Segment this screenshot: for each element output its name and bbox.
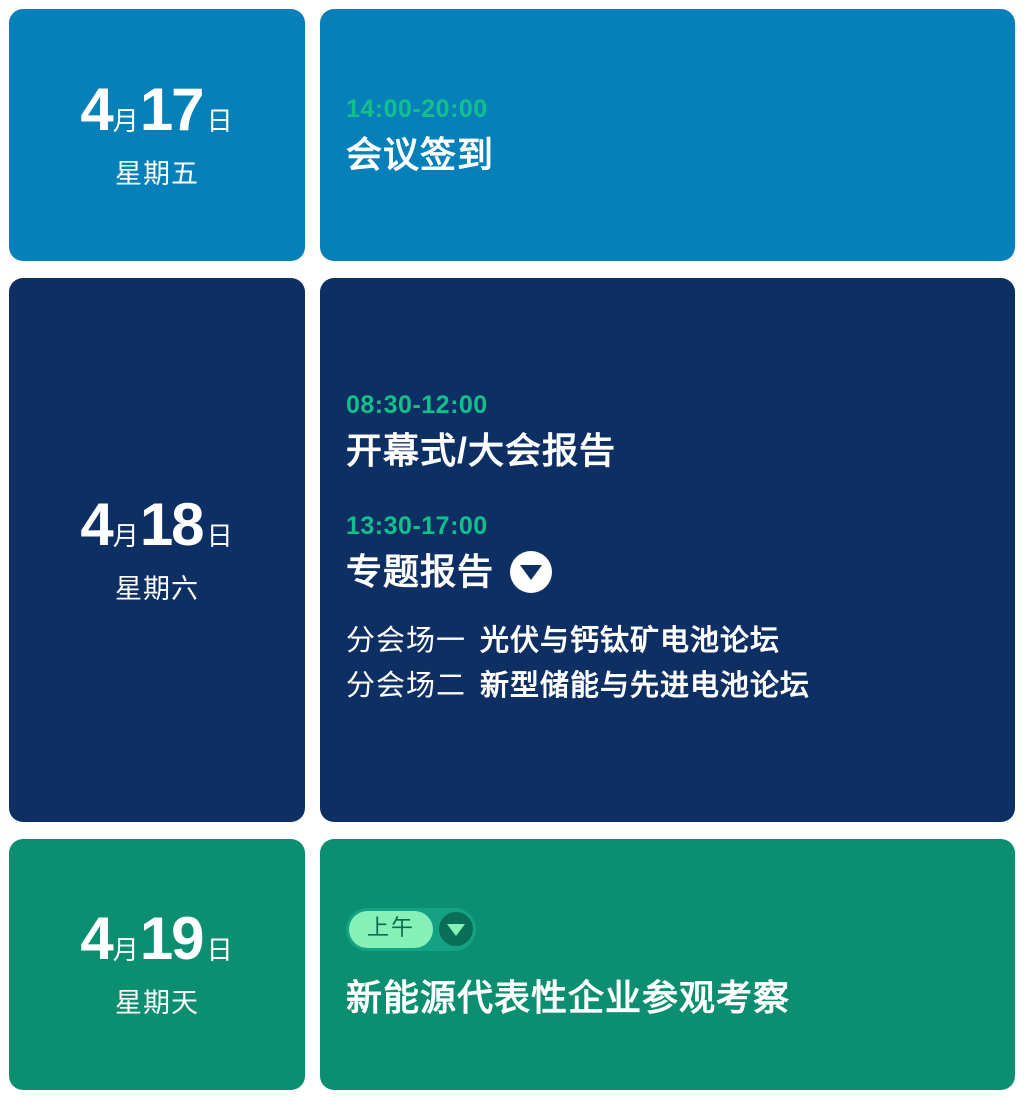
weekday-label: 星期六: [115, 567, 199, 606]
session-title-row: 会议签到: [346, 134, 989, 175]
sub-session-item[interactable]: 分会场二 新型储能与先进电池论坛: [346, 664, 989, 709]
date-card-day-1[interactable]: 4 月 17 日 星期五: [9, 9, 305, 261]
date-line: 4 月 19 日: [80, 909, 233, 969]
date-card-day-2[interactable]: 4 月 18 日 星期六: [9, 278, 305, 822]
day-unit-label: 日: [207, 523, 232, 549]
weekday-label: 星期天: [115, 981, 199, 1020]
conference-schedule: 4 月 17 日 星期五 14:00-20:00 会议签到 4 月 18 日: [0, 0, 1024, 1104]
sub-session-label: 分会场二: [346, 664, 466, 709]
session-time: 08:30-12:00: [346, 391, 989, 420]
date-line: 4 月 17 日: [80, 80, 233, 140]
detail-card-day-3[interactable]: 上午 新能源代表性企业参观考察: [320, 839, 1015, 1090]
sub-session-name: 光伏与钙钛矿电池论坛: [480, 619, 780, 664]
detail-card-day-1[interactable]: 14:00-20:00 会议签到: [320, 9, 1015, 261]
date-card-day-3[interactable]: 4 月 19 日 星期天: [9, 839, 305, 1090]
sub-session-name: 新型储能与先进电池论坛: [480, 664, 810, 709]
session-title: 会议签到: [346, 134, 494, 175]
chevron-down-icon[interactable]: [439, 912, 473, 946]
month-unit-label: 月: [113, 523, 138, 549]
morning-badge[interactable]: 上午: [346, 908, 476, 950]
session-title-row: 专题报告: [346, 551, 989, 593]
month-number: 4: [80, 909, 111, 969]
sub-session-item[interactable]: 分会场一 光伏与钙钛矿电池论坛: [346, 619, 989, 664]
session-item[interactable]: 14:00-20:00 会议签到: [346, 95, 989, 175]
day-number: 18: [140, 495, 203, 555]
weekday-label: 星期五: [115, 152, 199, 191]
session-title: 开幕式/大会报告: [346, 430, 616, 471]
session-time: 13:30-17:00: [346, 512, 989, 541]
session-item[interactable]: 13:30-17:00 专题报告 分会场一 光伏与钙钛矿电池论坛 分会场二 新型…: [346, 512, 989, 709]
chevron-down-glyph: [447, 924, 465, 936]
day-unit-label: 日: [207, 108, 232, 134]
day-unit-label: 日: [207, 937, 232, 963]
morning-badge-label: 上午: [349, 911, 433, 947]
sub-session-label: 分会场一: [346, 619, 466, 664]
session-title-row: 开幕式/大会报告: [346, 430, 989, 471]
schedule-row-day-2: 4 月 18 日 星期六 08:30-12:00 开幕式/大会报告 13:30-…: [9, 278, 1015, 822]
schedule-row-day-3: 4 月 19 日 星期天 上午 新能源代表性企业参观考察: [9, 839, 1015, 1090]
chevron-down-icon[interactable]: [510, 551, 552, 593]
session-time: 14:00-20:00: [346, 95, 989, 124]
session-title: 专题报告: [346, 551, 494, 592]
month-unit-label: 月: [113, 108, 138, 134]
day-number: 17: [140, 80, 203, 140]
session-item[interactable]: 08:30-12:00 开幕式/大会报告: [346, 391, 989, 471]
month-number: 4: [80, 80, 111, 140]
chevron-down-glyph: [520, 565, 542, 580]
session-title: 新能源代表性企业参观考察: [346, 969, 989, 1021]
schedule-row-day-1: 4 月 17 日 星期五 14:00-20:00 会议签到: [9, 9, 1015, 261]
detail-card-day-2[interactable]: 08:30-12:00 开幕式/大会报告 13:30-17:00 专题报告 分会…: [320, 278, 1015, 822]
day-number: 19: [140, 909, 203, 969]
date-line: 4 月 18 日: [80, 495, 233, 555]
sub-session-list: 分会场一 光伏与钙钛矿电池论坛 分会场二 新型储能与先进电池论坛: [346, 619, 989, 709]
month-number: 4: [80, 495, 111, 555]
month-unit-label: 月: [113, 937, 138, 963]
